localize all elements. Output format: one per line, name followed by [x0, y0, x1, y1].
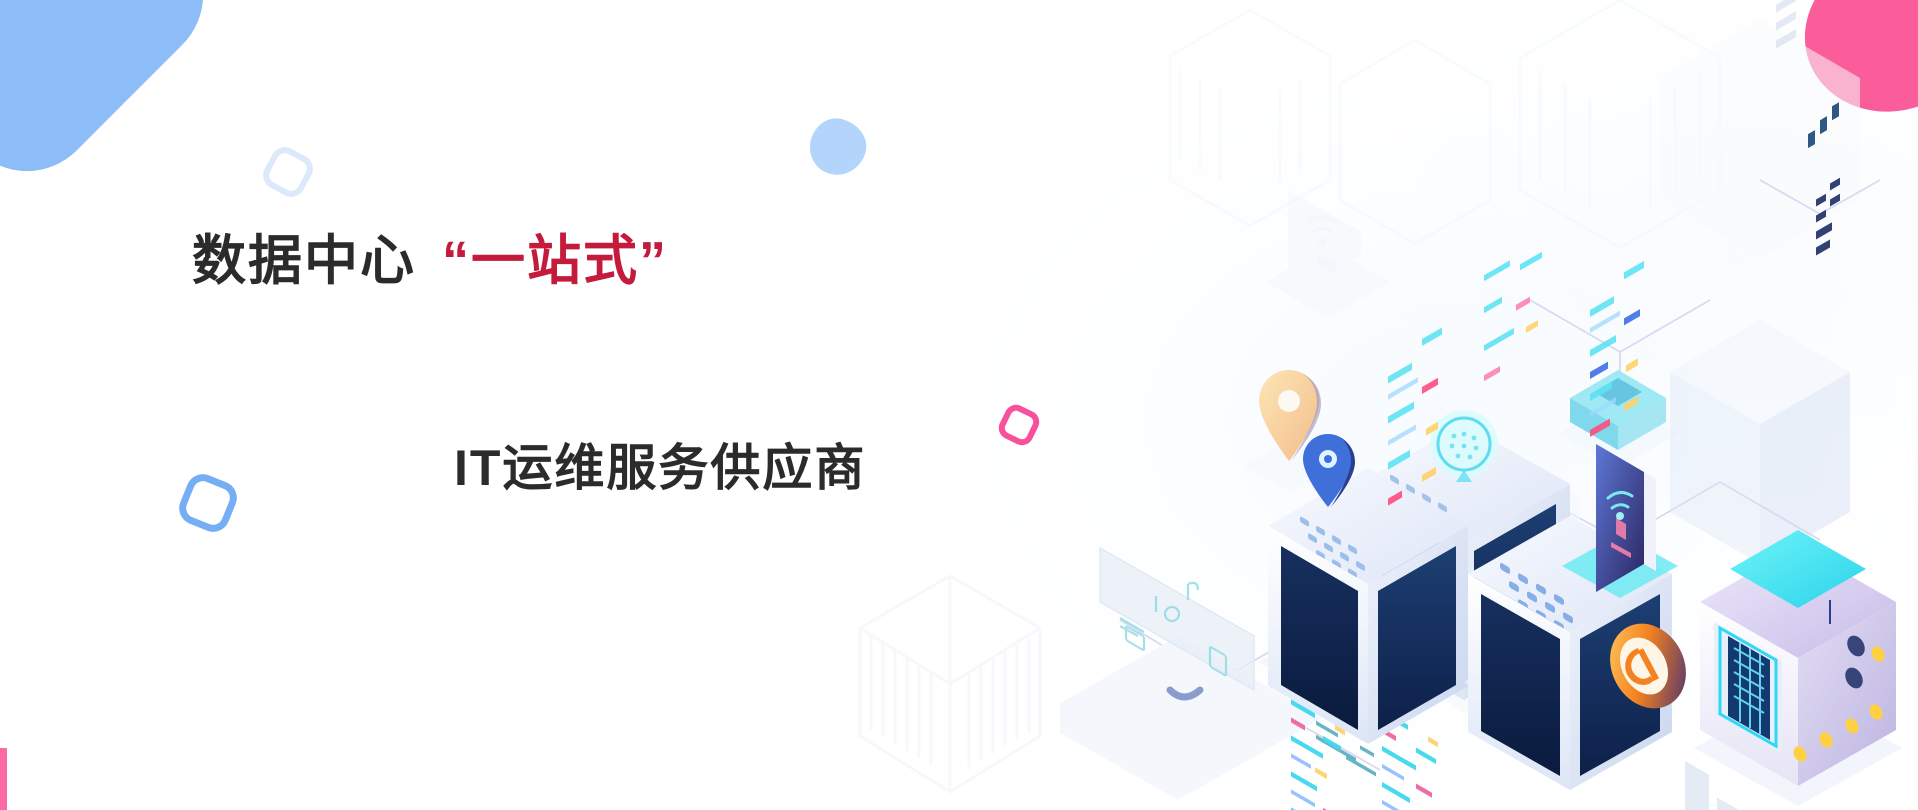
headline-line-1: 数据中心“一站式” — [192, 228, 1092, 296]
blob-blue-icon — [804, 113, 872, 181]
headline-line-2: IT运维服务供应商 — [454, 428, 1092, 500]
isometric-illustration — [1060, 0, 1918, 810]
headline-line1-part1: 数据中心 — [192, 231, 416, 291]
headline-line1-part2: “一站式” — [442, 231, 668, 291]
cyan-cube-icon — [1558, 370, 1678, 468]
headline-block: 数据中心“一站式” IT运维服务供应商 — [192, 228, 1092, 500]
led-rows-right — [1484, 252, 1542, 381]
banner-root: 数据中心“一站式” IT运维服务供应商 — [0, 0, 1918, 810]
background-buildings-watermark — [1170, 0, 1720, 248]
ring-blue-pale-icon — [258, 142, 318, 202]
wifi-monitor-faded — [1266, 190, 1390, 318]
background-building-block — [1660, 20, 1860, 258]
watermark-cube-icon — [855, 570, 1045, 800]
corner-blue-shape — [0, 0, 232, 200]
edge-pink-bar — [0, 748, 7, 810]
